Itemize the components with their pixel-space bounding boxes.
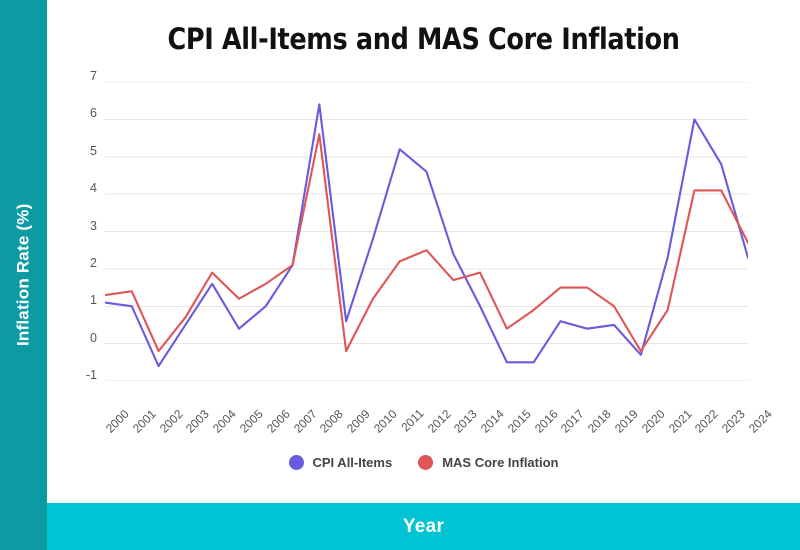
y-axis-tick-label: 6 [90,106,97,120]
x-axis-tick-label: 2007 [290,407,319,436]
x-axis-title-band: Year [47,503,800,550]
y-axis-tick-label: 1 [90,293,97,307]
x-axis-tick-label: 2003 [183,407,212,436]
x-axis-tick-label: 2005 [237,407,266,436]
legend-label: CPI All-Items [313,455,393,470]
x-axis-tick-label: 2022 [692,407,721,436]
x-axis-tick-label: 2000 [103,407,132,436]
legend-marker-icon [418,455,433,470]
y-axis-title-band: Inflation Rate (%) [0,0,47,550]
x-axis-tick-label: 2002 [157,407,186,436]
x-axis-tick-label: 2016 [532,407,561,436]
series-lines [105,104,748,366]
y-axis-tick-label: -1 [86,368,97,382]
x-axis-tick-label: 2011 [398,406,426,434]
x-axis-tick-label: 2001 [130,407,159,436]
y-axis-title: Inflation Rate (%) [0,0,47,550]
x-axis-tick-label: 2019 [612,407,641,436]
x-axis-tick-label: 2009 [344,407,373,436]
chart-card: CPI All-Items and MAS Core Inflation 765… [47,0,800,503]
x-axis-tick-label: 2010 [371,407,400,436]
y-axis-tick-label: 3 [90,219,97,233]
legend-label: MAS Core Inflation [442,455,558,470]
chart-page: Inflation Rate (%) Year CPI All-Items an… [0,0,800,550]
chart-legend: CPI All-ItemsMAS Core Inflation [47,455,800,470]
chart-svg [105,82,748,381]
series-line [105,104,748,366]
x-axis-tick-label: 2018 [585,407,614,436]
chart-title: CPI All-Items and MAS Core Inflation [92,22,755,56]
y-axis-tick-label: 4 [90,181,97,195]
x-axis-tick-label: 2006 [264,407,293,436]
x-axis-ticks: 2000200120022003200420052006200720082009… [105,388,748,458]
x-axis-title: Year [403,516,444,538]
y-axis-tick-label: 0 [90,331,97,345]
legend-item[interactable]: MAS Core Inflation [418,455,558,470]
x-axis-tick-label: 2014 [478,407,507,436]
x-axis-tick-label: 2013 [451,407,480,436]
y-axis-tick-label: 7 [90,69,97,83]
y-axis-tick-label: 2 [90,256,97,270]
x-axis-tick-label: 2008 [317,407,346,436]
x-axis-tick-label: 2004 [210,407,239,436]
x-axis-tick-label: 2012 [424,407,453,436]
x-axis-tick-label: 2020 [639,407,668,436]
x-axis-tick-label: 2021 [666,407,695,436]
legend-marker-icon [289,455,304,470]
x-axis-tick-label: 2017 [558,407,587,436]
plot-area: 76543210-1 [105,82,748,381]
y-axis-tick-label: 5 [90,144,97,158]
x-axis-tick-label: 2024 [746,407,775,436]
legend-item[interactable]: CPI All-Items [289,455,393,470]
x-axis-tick-label: 2015 [505,407,534,436]
x-axis-tick-label: 2023 [719,407,748,436]
